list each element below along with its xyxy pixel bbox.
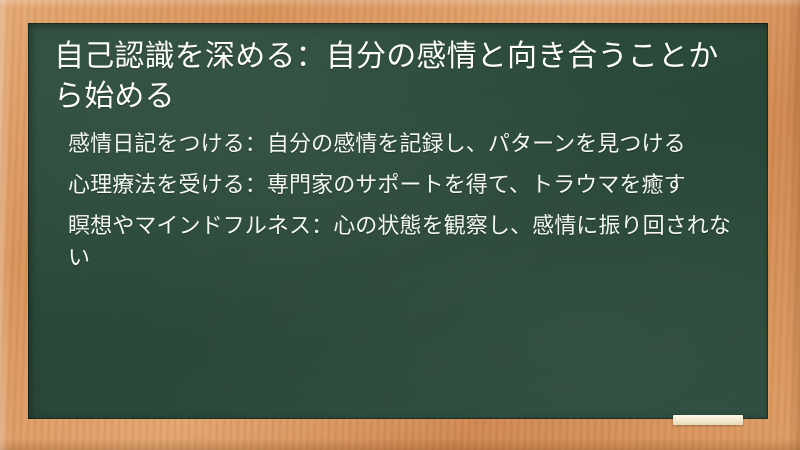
chalkboard-surface: 自己認識を深める：自分の感情と向き合うことから始める 感情日記をつける：自分の感… — [28, 23, 768, 419]
bullet-list: 感情日記をつける：自分の感情を記録し、パターンを見つける 心理療法を受ける：専門… — [54, 129, 742, 275]
chalk-stick-icon — [673, 415, 743, 425]
bullet-item-3: 瞑想やマインドフルネス：心の状態を観察し、感情に振り回されない — [68, 211, 742, 275]
slide-title: 自己認識を深める：自分の感情と向き合うことから始める — [54, 37, 742, 117]
bullet-item-1: 感情日記をつける：自分の感情を記録し、パターンを見つける — [68, 129, 742, 161]
chalkboard-slide: 自己認識を深める：自分の感情と向き合うことから始める 感情日記をつける：自分の感… — [0, 0, 800, 450]
bullet-item-2: 心理療法を受ける：専門家のサポートを得て、トラウマを癒す — [68, 170, 742, 202]
